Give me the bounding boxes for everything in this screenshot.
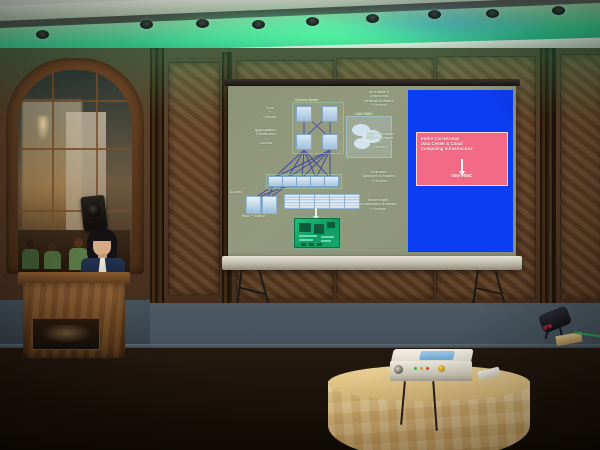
server-unit — [299, 194, 315, 209]
transform-arrow-icon — [315, 208, 317, 216]
round-table — [328, 365, 530, 450]
presenter-fringe — [91, 232, 113, 241]
downlight-icon — [140, 20, 153, 29]
chassis-switch-title: Chassis Switch — [295, 98, 318, 102]
screen-bottom-bar — [222, 256, 522, 270]
pa-loudspeaker — [80, 195, 107, 231]
slide-right-panel: Entire Current-Day Data Center & Cloud C… — [408, 90, 513, 252]
access-switch — [324, 176, 339, 187]
projection-screen: Chassis Switch Core + License Aggregatio… — [228, 84, 516, 280]
core-switch — [322, 106, 338, 122]
photo-scene: Chassis Switch Core + License Aggregatio… — [0, 0, 600, 450]
access-switch — [268, 176, 283, 187]
label-aggregation: Aggregation / Distribution + License — [240, 128, 292, 145]
wall-panel — [168, 62, 220, 296]
speaker-podium — [18, 272, 130, 358]
arch-mullion — [18, 210, 132, 212]
access-switch — [310, 176, 325, 187]
server-unit — [329, 194, 345, 209]
chandelier-icon — [36, 116, 50, 142]
lan-wan-title: LAN / WAN — [355, 112, 372, 116]
lamp-led-icon — [426, 367, 429, 370]
downlight-icon — [252, 20, 265, 29]
down-arrow-icon — [461, 159, 463, 172]
arch-mullion — [18, 148, 132, 150]
screen-top-bar — [224, 79, 520, 86]
infrastructure-callout: Entire Current-Day Data Center & Cloud C… — [416, 132, 508, 186]
audience-head — [48, 242, 56, 251]
vsoc-chip — [294, 218, 340, 248]
wall-panel — [560, 54, 600, 300]
audience-body — [22, 249, 39, 269]
downlight-icon — [196, 19, 209, 28]
access-switch — [282, 176, 297, 187]
aggregation-switch — [296, 134, 312, 150]
rack-unit — [246, 196, 261, 214]
downlight-icon — [552, 6, 565, 15]
wall-pilaster — [540, 48, 556, 318]
label-access: Access — [230, 190, 256, 194]
hotel-crest-icon — [41, 325, 91, 343]
access-switch — [296, 176, 311, 187]
label-dedicated-switches: Dedicated Switches & Routers + License — [352, 170, 406, 183]
aggregation-switch — [322, 134, 338, 150]
label-unreliable-network: Unreliable & Unsecured Network Software … — [352, 90, 406, 107]
downlight-icon — [428, 10, 441, 19]
label-core: Core + License — [250, 106, 290, 119]
server-unit — [314, 194, 330, 209]
video-projector — [390, 349, 474, 383]
label-rack-switch: Rack + Switch — [242, 214, 286, 218]
server-unit — [284, 194, 300, 209]
power-led-icon — [414, 367, 417, 370]
wall-pilaster — [150, 48, 164, 312]
callout-result: One vSoC — [417, 173, 507, 178]
podium-plaque — [32, 318, 100, 350]
downlight-icon — [36, 30, 49, 39]
callout-line-3: Computing Infrastructure — [417, 146, 507, 151]
status-led-icon — [420, 367, 423, 370]
label-sdn: SDN + hardware SDN + hardware + License — [354, 132, 406, 149]
projector-lens-icon — [394, 365, 403, 374]
projector-connector — [438, 365, 445, 372]
audience-head — [26, 240, 34, 249]
rack-unit — [262, 196, 277, 214]
ceiling-blue-glow — [330, 6, 570, 40]
downlight-icon — [306, 17, 319, 26]
downlight-icon — [486, 9, 499, 18]
arch-mullion — [18, 100, 132, 102]
core-switch — [296, 106, 312, 122]
audience-body — [44, 251, 61, 269]
label-servers-virtualization: Servers with Virtualization Software + L… — [350, 198, 406, 211]
callout-line-1: Entire Current-Day — [417, 133, 507, 141]
speaker-cone-icon — [86, 202, 101, 217]
downlight-icon — [366, 14, 379, 23]
projector-vent — [419, 351, 455, 360]
stage-light — [534, 310, 582, 346]
screen-canvas: Chassis Switch Core + License Aggregatio… — [228, 86, 516, 256]
slide-left-diagram: Chassis Switch Core + License Aggregatio… — [228, 86, 406, 256]
slide-content: Chassis Switch Core + License Aggregatio… — [228, 86, 516, 256]
